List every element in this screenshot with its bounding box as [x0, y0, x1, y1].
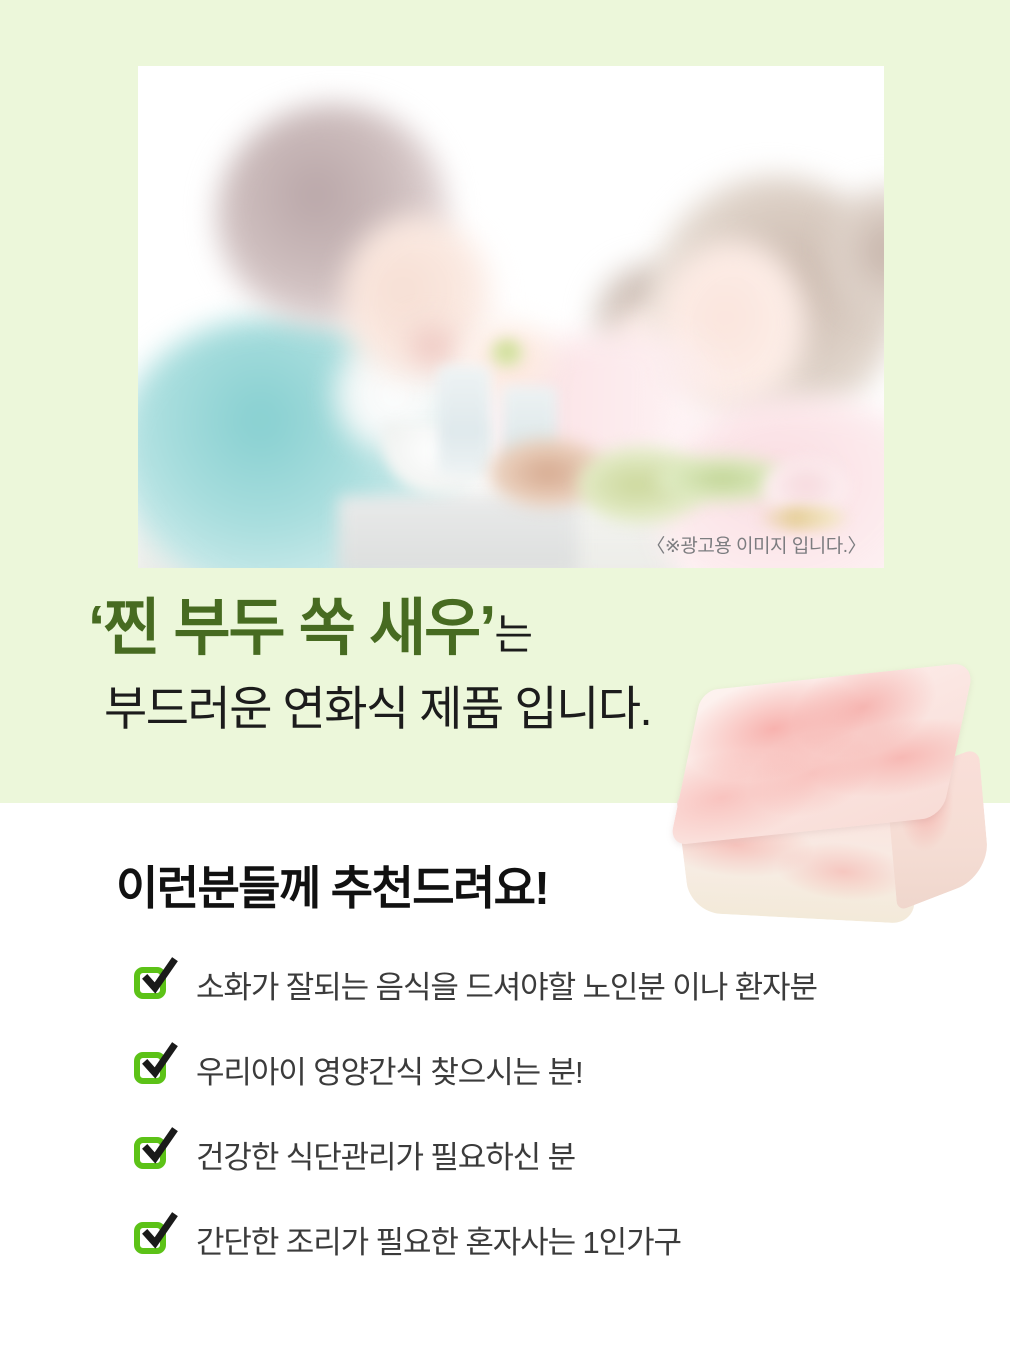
- product-photo: [657, 650, 1008, 957]
- check-mark-glyph: [140, 960, 178, 998]
- list-item-label: 소화가 잘되는 음식을 드셔야할 노인분 이나 환자분: [196, 962, 817, 1007]
- check-box-icon: [134, 964, 174, 1004]
- photo-caption: 〈※광고용 이미지 입니다.〉: [646, 531, 866, 558]
- list-item: 우리아이 영양간식 찾으시는 분!: [134, 1045, 954, 1093]
- photo-food-bite: [490, 338, 524, 368]
- headline-brand-suffix: 는: [494, 611, 532, 658]
- photo-scene: [138, 66, 884, 568]
- headline-brand-name: ‘찐 부두 쏙 새우’: [88, 594, 494, 663]
- list-item-label: 간단한 조리가 필요한 혼자사는 1인가구: [196, 1217, 681, 1262]
- list-item-label: 우리아이 영양간식 찾으시는 분!: [196, 1047, 583, 1092]
- check-box-icon: [134, 1049, 174, 1089]
- recommend-checklist: 소화가 잘되는 음식을 드셔야할 노인분 이나 환자분 우리아이 영양간식 찾으…: [134, 960, 954, 1300]
- check-box-icon: [134, 1134, 174, 1174]
- list-item: 소화가 잘되는 음식을 드셔야할 노인분 이나 환자분: [134, 960, 954, 1008]
- headline-line-1: ‘찐 부두 쏙 새우’는: [0, 598, 1010, 660]
- check-mark-glyph: [140, 1215, 178, 1253]
- lifestyle-photo: 〈※광고용 이미지 입니다.〉: [138, 66, 884, 568]
- check-box-icon: [134, 1219, 174, 1259]
- check-mark-glyph: [140, 1045, 178, 1083]
- recommend-heading: 이런분들께 추천드려요!: [116, 852, 548, 918]
- list-item: 간단한 조리가 필요한 혼자사는 1인가구: [134, 1215, 954, 1263]
- photo-grandmother-mouth: [406, 324, 458, 368]
- photo-spoon: [756, 506, 852, 530]
- check-mark-glyph: [140, 1130, 178, 1168]
- photo-glass-left: [438, 366, 490, 476]
- list-item-label: 건강한 식단관리가 필요하신 분: [196, 1132, 575, 1177]
- list-item: 건강한 식단관리가 필요하신 분: [134, 1130, 954, 1178]
